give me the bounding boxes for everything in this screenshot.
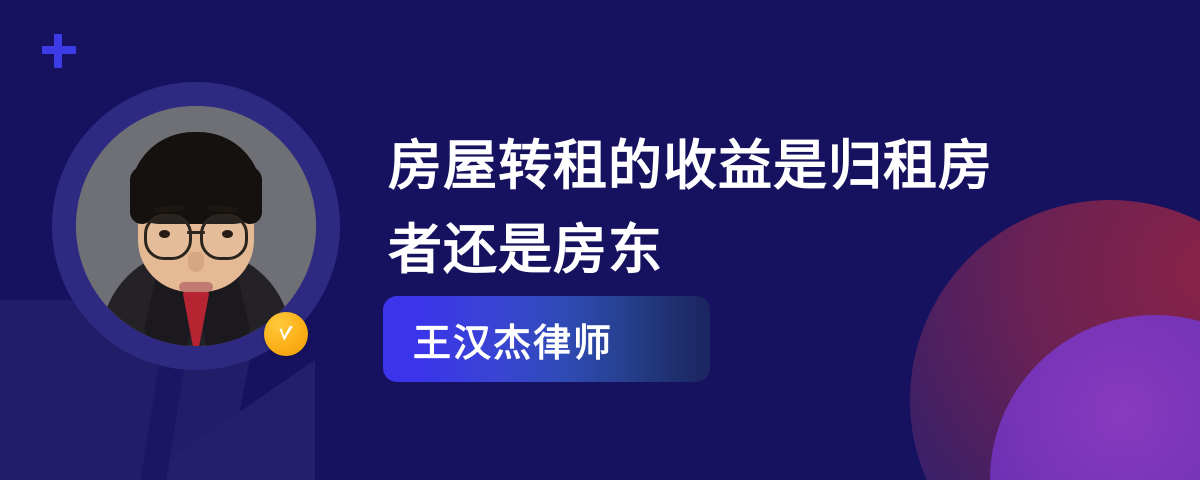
page-title: 房屋转租的收益是归租房 者还是房东 [388, 124, 1168, 292]
background-blob-purple [990, 315, 1200, 480]
lawyer-name-label: 王汉杰律师 [413, 312, 613, 367]
verified-check-icon [264, 312, 308, 356]
plus-icon [41, 33, 77, 69]
background-shape-left-triangle [140, 360, 315, 480]
headline-block: 房屋转租的收益是归租房 者还是房东 [388, 124, 1168, 292]
avatar [52, 82, 340, 370]
lawyer-name-badge[interactable]: 王汉杰律师 [383, 296, 710, 382]
page-title-line-1: 房屋转租的收益是归租房 [388, 124, 1168, 208]
page-title-line-2: 者还是房东 [388, 208, 1168, 292]
lawyer-qa-banner: 房屋转租的收益是归租房 者还是房东 王汉杰律师 [0, 0, 1200, 480]
avatar-photo [76, 106, 316, 346]
